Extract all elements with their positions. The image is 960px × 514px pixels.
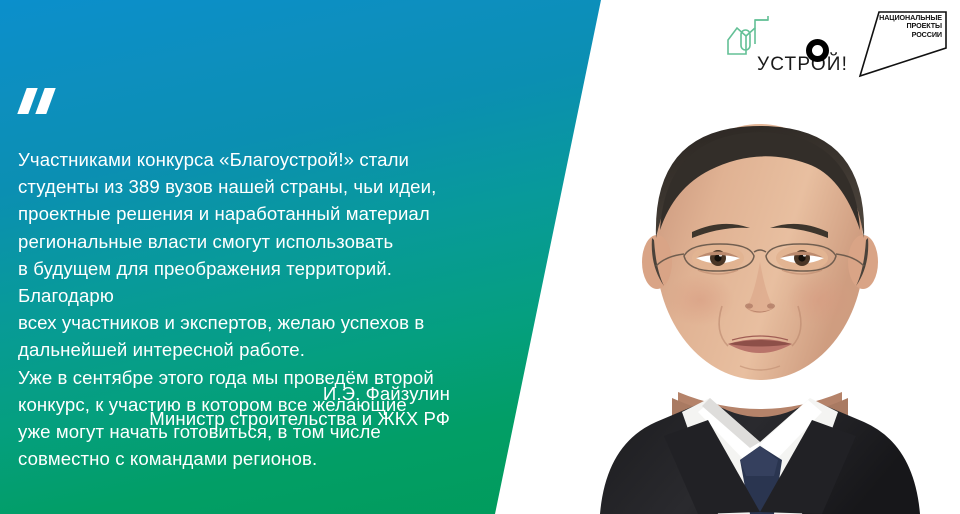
attribution: И.Э. Файзулин Министр строительства и ЖК…	[60, 381, 450, 431]
location-pin-ring-icon	[806, 39, 829, 62]
ustroy-logo: УСТРОЙ!	[722, 10, 842, 88]
slide-canvas: Участниками конкурса «Благоустрой!» стал…	[0, 0, 960, 514]
quote-mark-icon	[18, 88, 64, 114]
national-projects-logo: НАЦИОНАЛЬНЫЕ ПРОЕКТЫ РОССИИ	[858, 10, 950, 80]
attribution-role: Министр строительства и ЖКХ РФ	[60, 406, 450, 431]
np-line-3: РОССИИ	[872, 31, 942, 39]
house-outline-icon	[722, 10, 778, 60]
ustroy-wordmark: УСТРОЙ!	[757, 54, 848, 76]
national-projects-text: НАЦИОНАЛЬНЫЕ ПРОЕКТЫ РОССИИ	[872, 14, 942, 39]
attribution-name: И.Э. Файзулин	[60, 381, 450, 406]
